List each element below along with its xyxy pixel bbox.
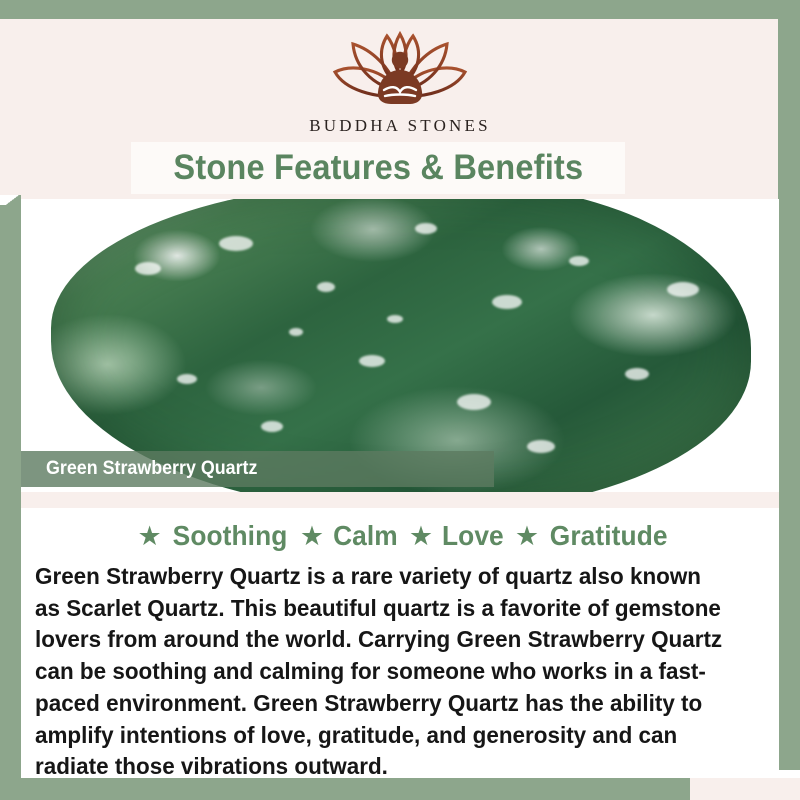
star-icon: ★ [409, 523, 433, 550]
star-icon: ★ [138, 523, 162, 550]
keyword-list: ★ Soothing ★ Calm ★ Love ★ Gratitude [21, 520, 779, 552]
keyword-item: ★ Love [400, 520, 506, 552]
keyword-label: Soothing [172, 520, 287, 552]
brand-logo: BUDDHA STONES [0, 24, 800, 136]
brand-wordmark: BUDDHA STONES [0, 116, 800, 136]
lotus-meditation-icon [315, 24, 485, 112]
photo-caption-band: Green Strawberry Quartz [21, 451, 494, 487]
stone-image [51, 199, 751, 492]
poster-root: BUDDHA STONES Stone Features & Benefits … [0, 0, 800, 800]
keyword-label: Love [442, 520, 504, 552]
stone-photo: Green Strawberry Quartz [21, 199, 779, 492]
content-area: ★ Soothing ★ Calm ★ Love ★ Gratitude Gre… [21, 508, 779, 778]
photo-divider-strip [21, 492, 779, 508]
photo-caption-label: Green Strawberry Quartz [46, 458, 257, 480]
keyword-item: ★ Soothing [129, 520, 291, 552]
frame-left-bar [0, 205, 21, 780]
star-icon: ★ [515, 523, 539, 550]
keyword-item: ★ Gratitude [506, 520, 672, 552]
keyword-label: Calm [333, 520, 398, 552]
page-title: Stone Features & Benefits [173, 148, 583, 188]
description-paragraph: Green Strawberry Quartz is a rare variet… [35, 561, 732, 783]
keyword-item: ★ Calm [291, 520, 400, 552]
keyword-label: Gratitude [550, 520, 668, 552]
star-icon: ★ [300, 523, 324, 550]
frame-top-bar [0, 0, 800, 19]
title-banner: Stone Features & Benefits [131, 142, 625, 194]
